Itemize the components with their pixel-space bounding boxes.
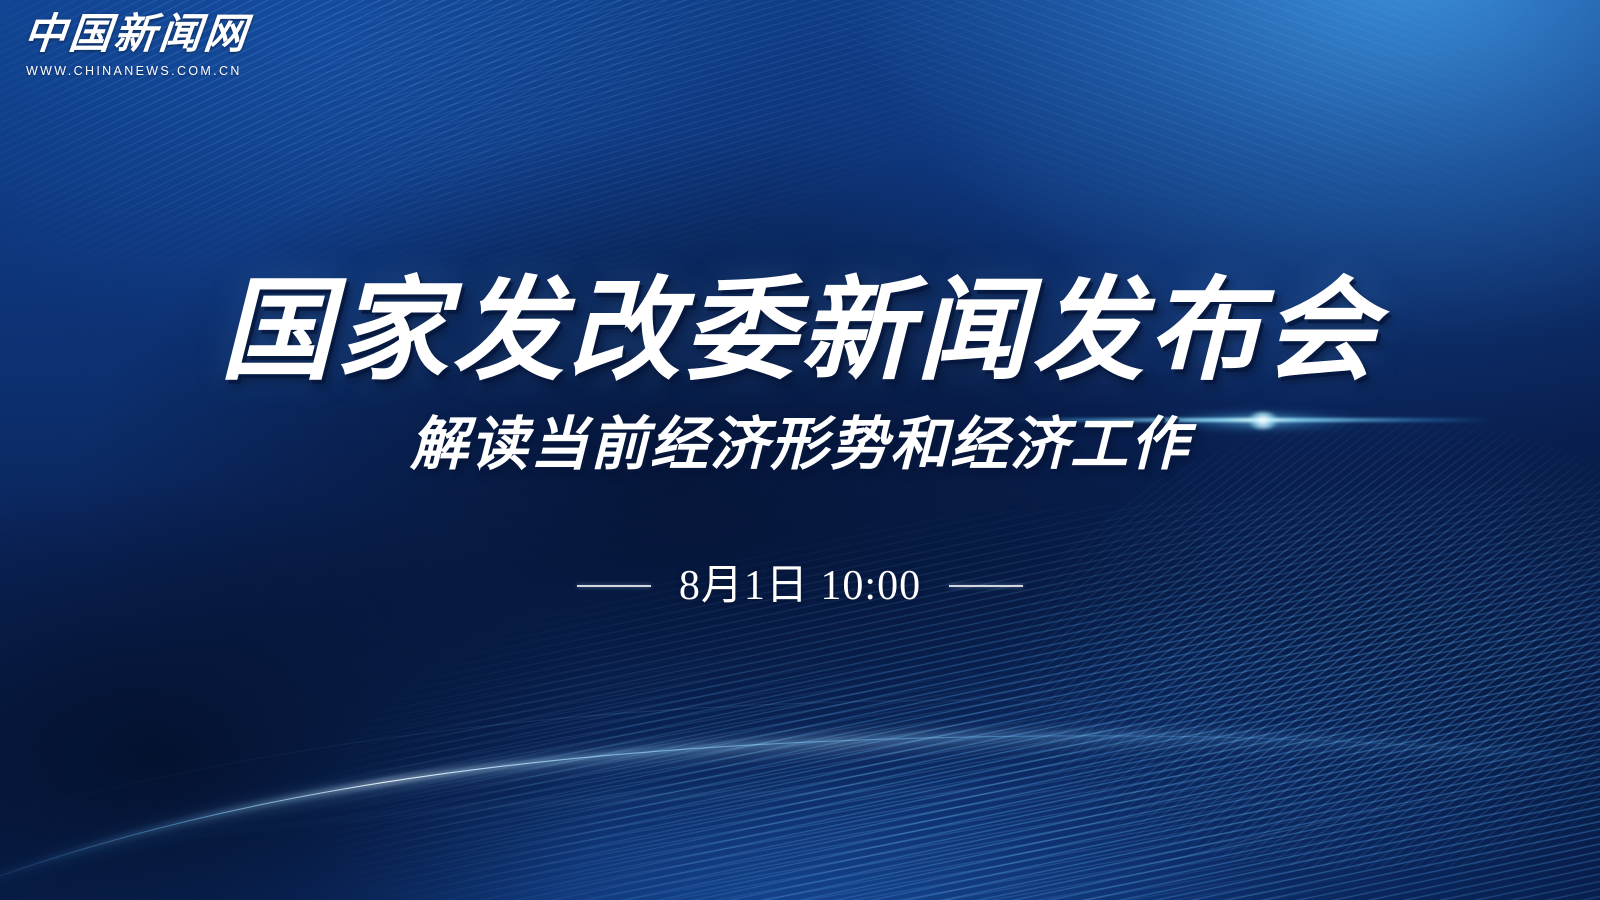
page-subtitle: 解读当前经济形势和经济工作 bbox=[410, 413, 1190, 477]
chinanews-logo[interactable]: 中国新闻网 WWW.CHINANEWS.COM.CN bbox=[24, 14, 249, 78]
page-title: 国家发改委新闻发布会 bbox=[220, 272, 1380, 391]
logo-brand-name: 中国新闻网 bbox=[22, 14, 251, 56]
logo-url-text: WWW.CHINANEWS.COM.CN bbox=[26, 65, 249, 78]
divider-rule-right bbox=[949, 585, 1023, 587]
divider-rule-left bbox=[577, 585, 651, 587]
poster-content: 国家发改委新闻发布会 解读当前经济形势和经济工作 8月1日 10:00 bbox=[0, 0, 1600, 900]
event-datetime-text: 8月1日 10:00 bbox=[679, 565, 921, 607]
poster-root: 中国新闻网 WWW.CHINANEWS.COM.CN 国家发改委新闻发布会 解读… bbox=[0, 0, 1600, 900]
event-datetime-bar: 8月1日 10:00 bbox=[577, 565, 1023, 607]
